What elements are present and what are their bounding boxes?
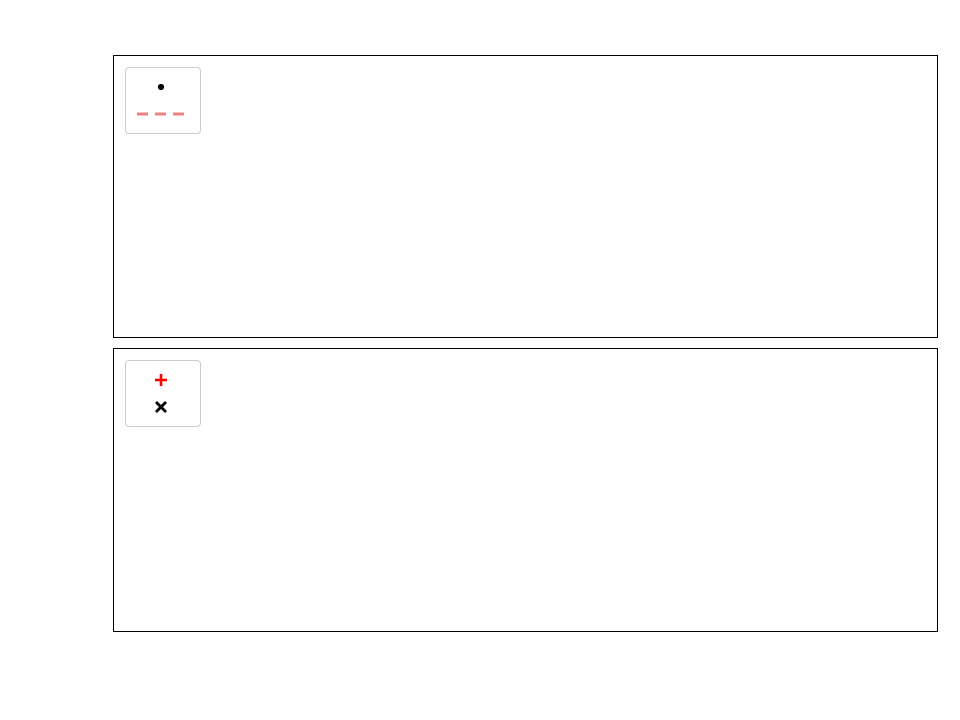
plus-marker-icon [135,371,187,389]
legend-item-threshold [135,100,191,127]
point-marker-icon [135,79,187,95]
bottom-panel [113,348,938,632]
cross-marker-icon [135,398,187,416]
legend-item-matched-stars [135,366,191,393]
dashed-line-icon [135,109,187,119]
legend-item-measurements [135,73,191,100]
top-panel [113,55,938,338]
top-plot-area [114,56,937,337]
legend-item-predicted-stars [135,393,191,420]
top-legend [125,67,201,134]
bottom-legend [125,360,201,427]
figure-canvas [0,0,960,720]
bottom-plot-area [114,349,937,631]
